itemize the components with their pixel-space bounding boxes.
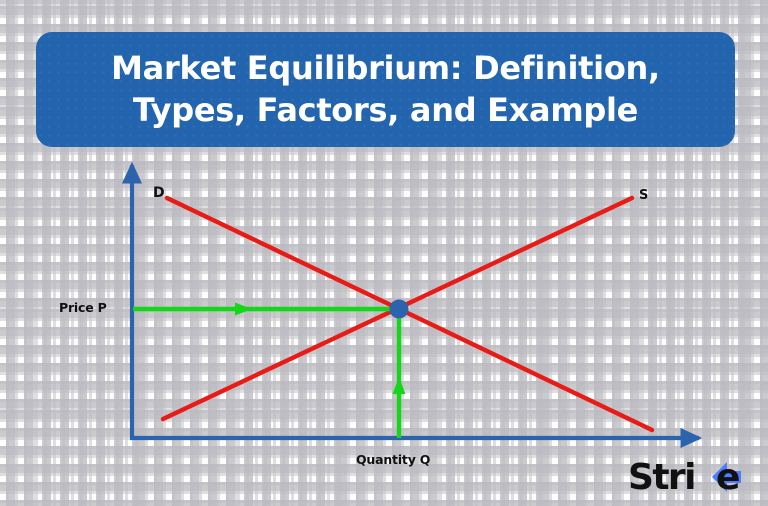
price-guide-arrowhead (235, 303, 252, 316)
demand-curve-label: D (153, 185, 165, 201)
page-title: Market Equilibrium: Definition, Types, F… (111, 48, 660, 131)
supply-curve-label: S (639, 188, 648, 203)
title-banner: Market Equilibrium: Definition, Types, F… (36, 32, 735, 147)
y-axis-label: Price P (59, 300, 107, 315)
infographic-canvas: Market Equilibrium: Definition, Types, F… (0, 0, 768, 506)
equilibrium-point (390, 300, 409, 319)
quantity-guide-arrowhead (393, 377, 406, 394)
strike-logo-mark: Stri e e (628, 456, 746, 498)
strike-logo: Stri e e (628, 456, 746, 498)
demand-curve (167, 198, 652, 430)
x-axis-label: Quantity Q (356, 452, 430, 467)
logo-text-main: Stri (628, 457, 695, 498)
logo-text-e: e (716, 457, 740, 498)
